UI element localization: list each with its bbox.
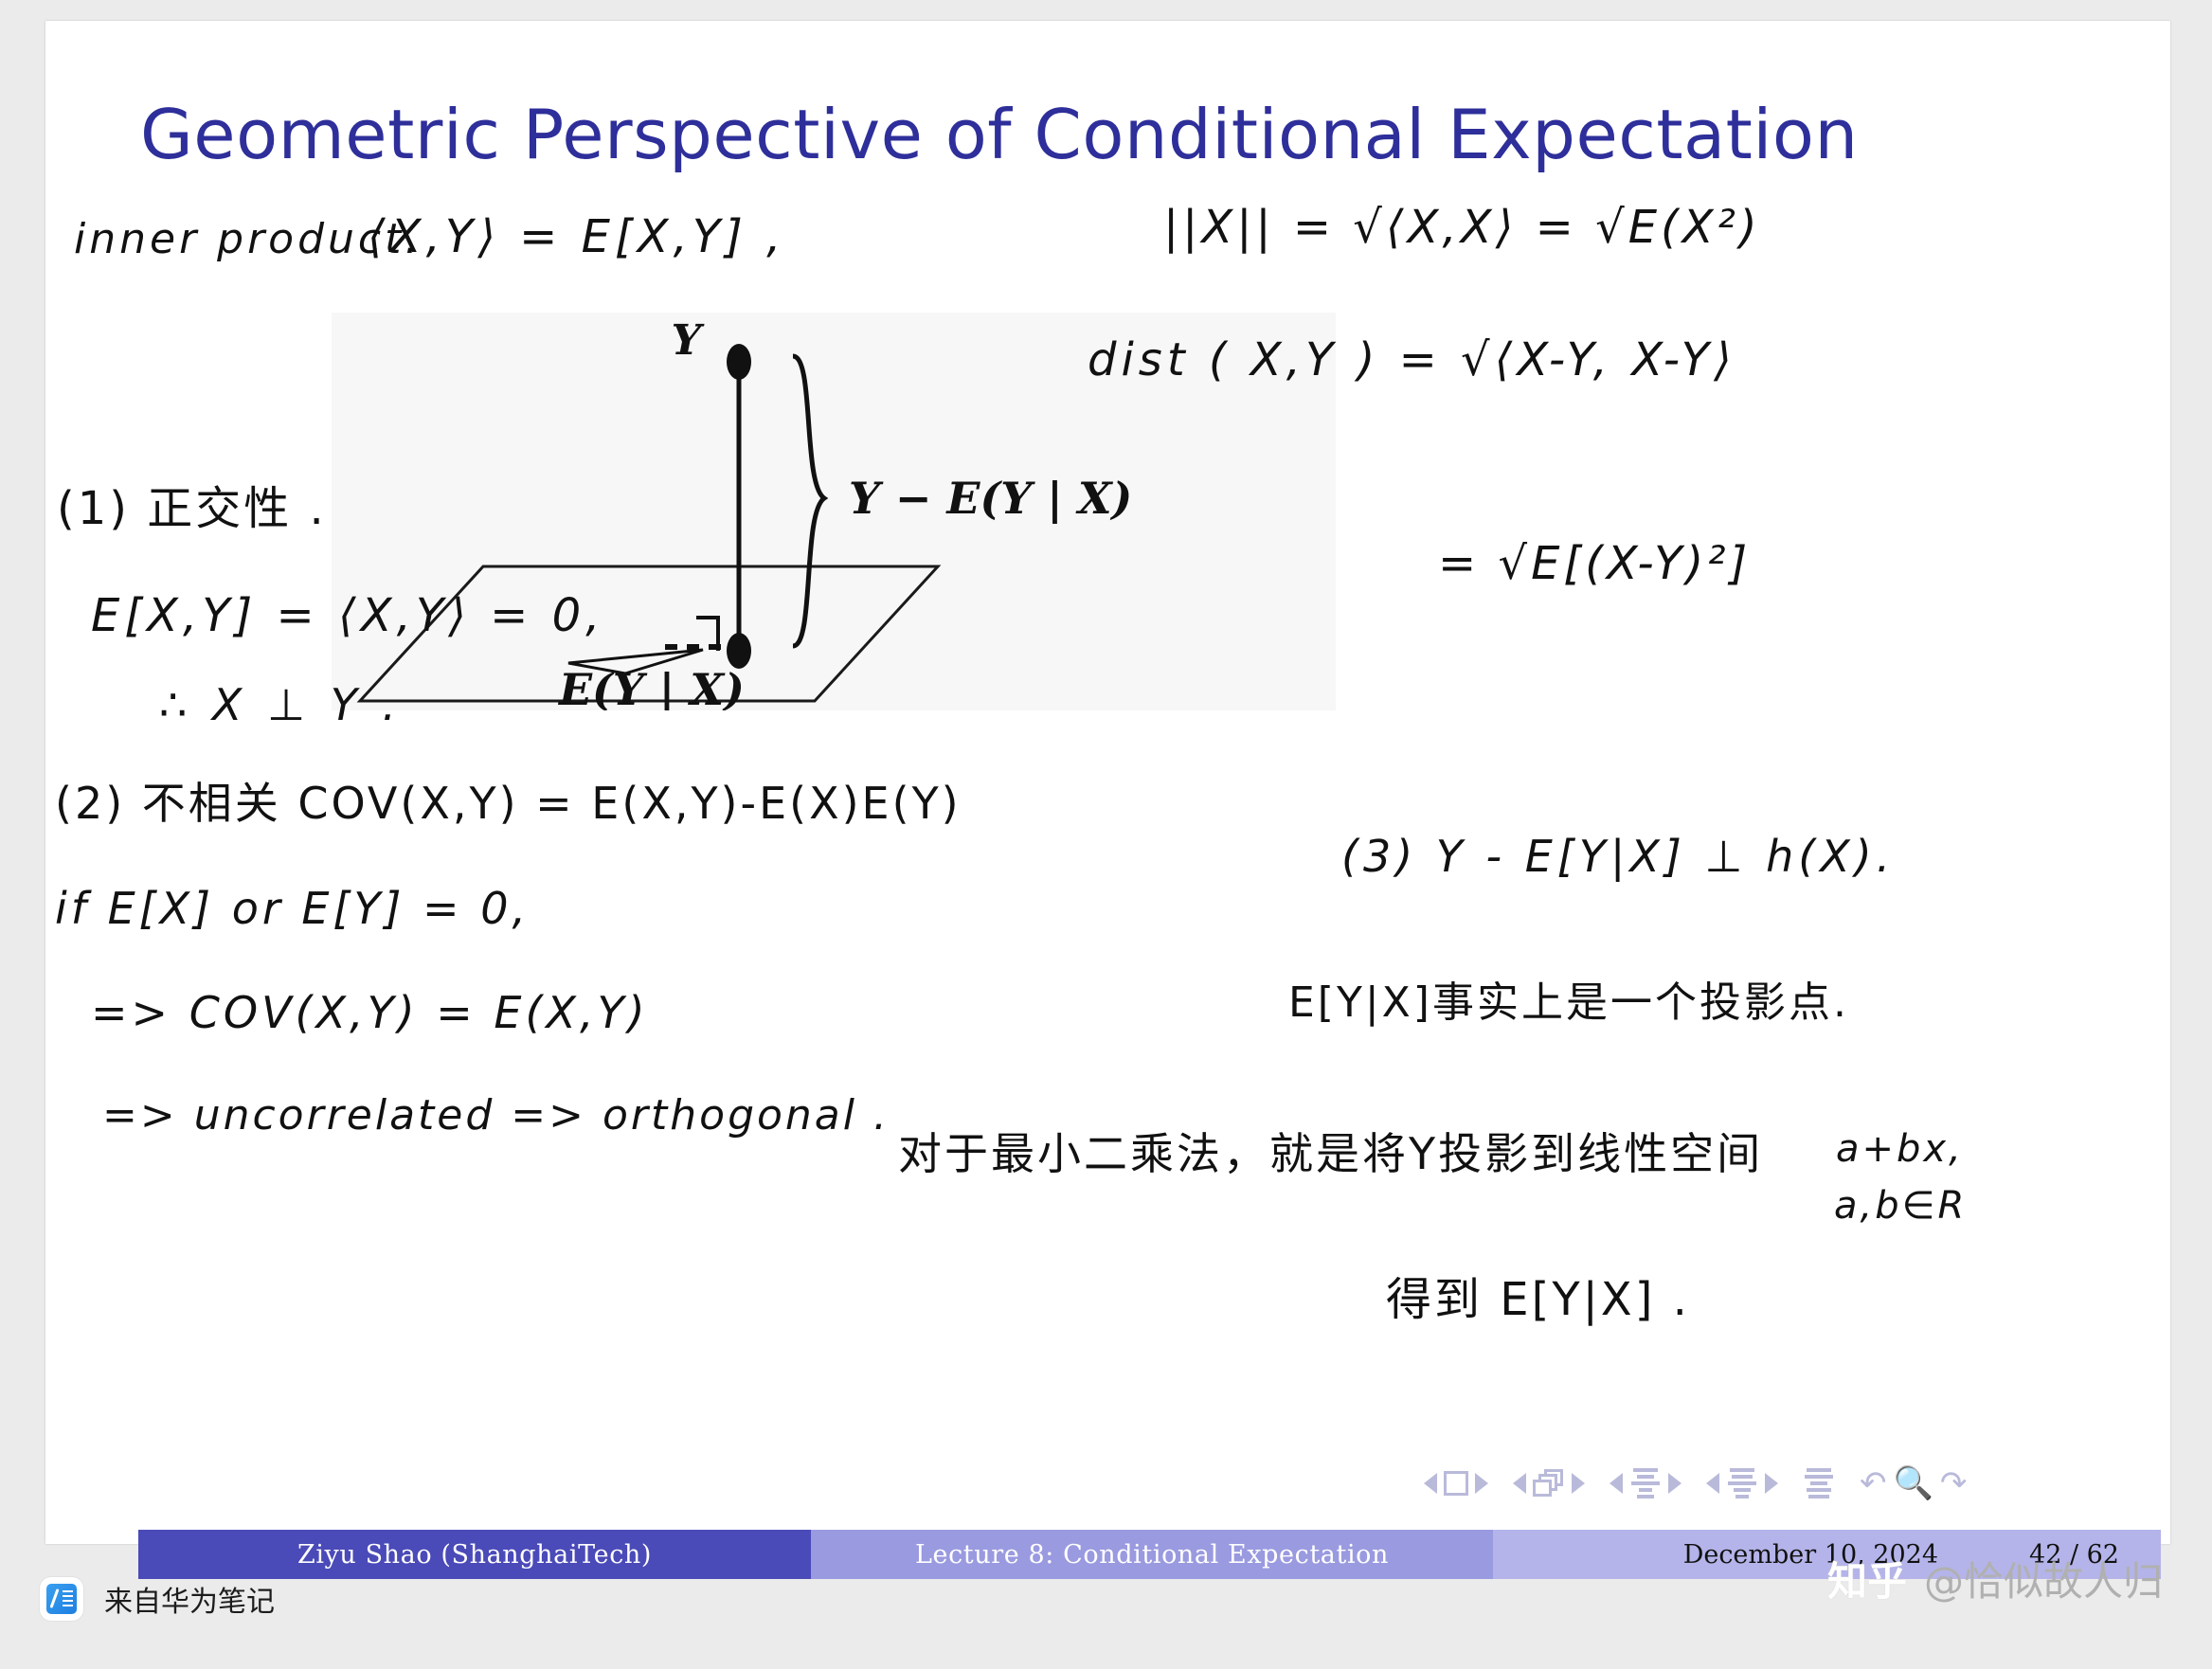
- hw-item1-heading: (1) 正交性 .: [57, 471, 327, 537]
- next-frame-icon[interactable]: [1572, 1473, 1585, 1494]
- hw-item2-conclusion: => uncorrelated => orthogonal .: [102, 1091, 890, 1140]
- prev-slide-icon[interactable]: [1424, 1473, 1437, 1494]
- hw-inner-product-eq: ⟨X,Y⟩ = E[X,Y] ,: [368, 210, 785, 263]
- figure-label-residual: Y − E(Y | X): [849, 473, 1132, 524]
- footer-author: Ziyu Shao (ShanghaiTech): [138, 1530, 811, 1579]
- source-badge: 来自华为笔记: [40, 1577, 275, 1621]
- screenshot-root: Geometric Perspective of Conditional Exp…: [0, 0, 2212, 1669]
- forward-icon[interactable]: ↷: [1940, 1467, 1968, 1499]
- page-title: Geometric Perspective of Conditional Exp…: [140, 95, 2082, 174]
- subsection-icon[interactable]: [1629, 1468, 1662, 1499]
- zhihu-watermark: 知乎 @恰似故人归: [1827, 1550, 2163, 1607]
- prev-section-icon[interactable]: [1706, 1473, 1719, 1494]
- slide-sheet: Geometric Perspective of Conditional Exp…: [45, 21, 2170, 1544]
- next-subsection-icon[interactable]: [1668, 1473, 1681, 1494]
- hw-dist-eq: dist ( X,Y ) = √⟨X-Y, X-Y⟩: [1088, 333, 1736, 386]
- nav-group-frame[interactable]: [1513, 1469, 1585, 1498]
- back-icon[interactable]: ↶: [1860, 1467, 1887, 1499]
- source-label: 来自华为笔记: [104, 1578, 275, 1620]
- frames-icon[interactable]: [1533, 1469, 1565, 1498]
- footer-lecture: Lecture 8: Conditional Expectation: [811, 1530, 1493, 1579]
- figure-label-y: Y: [672, 316, 705, 365]
- hw-item1-equation: E[X,Y] = ⟨X,Y⟩ = 0,: [91, 589, 604, 642]
- figure-label-projection: E(Y | X): [557, 664, 745, 710]
- hw-item1-conclusion: ∴ X ⊥ Y .: [159, 679, 402, 730]
- hw-least-squares-note: 对于最小二乘法，就是将Y投影到线性空间: [898, 1120, 1763, 1182]
- hw-item2-then: => COV(X,Y) = E(X,Y): [91, 987, 649, 1038]
- point-y: [727, 344, 751, 380]
- nav-group-subsection[interactable]: [1610, 1468, 1681, 1499]
- hw-item2-condition: if E[X] or E[Y] = 0,: [55, 883, 530, 934]
- nav-group-slide[interactable]: [1424, 1471, 1488, 1496]
- next-section-icon[interactable]: [1765, 1473, 1778, 1494]
- hw-dist-eq-cont: = √E[(X-Y)²]: [1438, 537, 1751, 590]
- nav-group-history[interactable]: ↶ 🔍 ↷: [1860, 1467, 1967, 1499]
- nav-group-document[interactable]: [1803, 1468, 1835, 1499]
- section-icon[interactable]: [1726, 1468, 1758, 1499]
- hw-result: 得到 E[Y|X] .: [1386, 1262, 1690, 1328]
- residual-brace: [793, 356, 824, 646]
- hw-linear-span-params: a,b∈R: [1834, 1184, 1967, 1228]
- zhihu-username: @恰似故人归: [1924, 1550, 2163, 1607]
- prev-frame-icon[interactable]: [1513, 1473, 1526, 1494]
- hw-projection-note: E[Y|X]事实上是一个投影点.: [1288, 968, 1849, 1029]
- document-icon[interactable]: [1803, 1468, 1835, 1499]
- nav-group-section[interactable]: [1706, 1468, 1778, 1499]
- huawei-notes-icon: [40, 1577, 83, 1621]
- zhihu-brand: 知乎: [1827, 1550, 1907, 1607]
- beamer-navigation-bar[interactable]: ↶ 🔍 ↷: [1424, 1459, 2144, 1508]
- search-icon[interactable]: 🔍: [1894, 1467, 1933, 1499]
- hw-item3: (3) Y - E[Y|X] ⊥ h(X).: [1341, 831, 1895, 882]
- hw-item2-heading: (2) 不相关 COV(X,Y) = E(X,Y)-E(X)E(Y): [55, 769, 962, 832]
- next-slide-icon[interactable]: [1475, 1473, 1488, 1494]
- hw-norm-eq: ||X|| = √⟨X,X⟩ = √E(X²): [1163, 201, 1761, 254]
- hw-linear-span-set: a+bx,: [1836, 1127, 1964, 1171]
- prev-subsection-icon[interactable]: [1610, 1473, 1623, 1494]
- current-frame-icon[interactable]: [1444, 1471, 1468, 1496]
